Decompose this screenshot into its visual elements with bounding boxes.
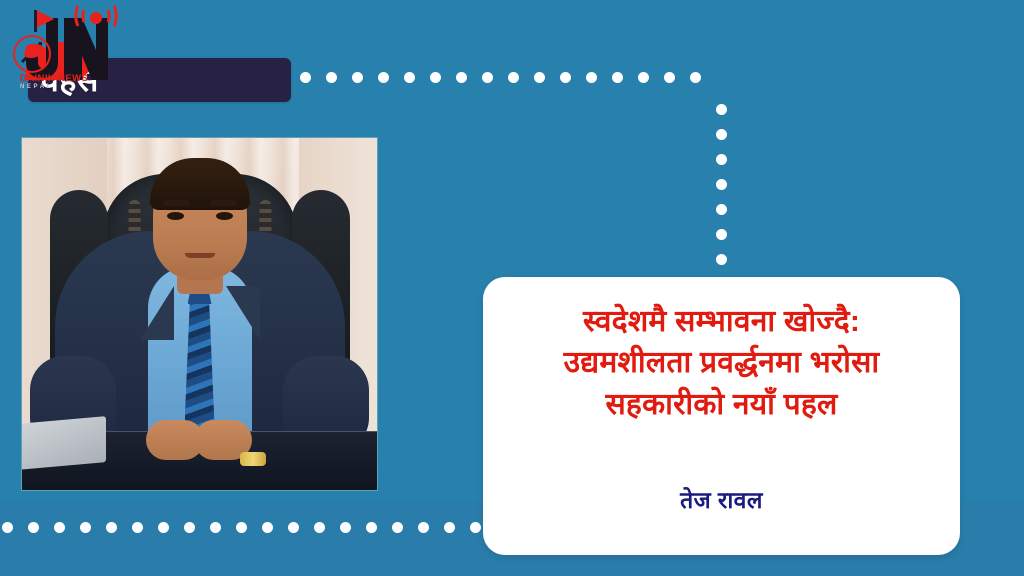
guest-portrait-photo bbox=[22, 138, 377, 490]
decorative-dot bbox=[716, 129, 727, 140]
decorative-dot bbox=[54, 522, 65, 533]
decorative-dot bbox=[288, 522, 299, 533]
logo-wordmark: DAINIK NEWS NEPAL bbox=[20, 74, 88, 90]
decorative-dot bbox=[716, 179, 727, 190]
headline-text: स्वदेशमै सम्भावना खोज्दै:उद्यमशीलता प्रव… bbox=[483, 301, 960, 425]
decorative-dot bbox=[236, 522, 247, 533]
decorative-dot bbox=[664, 72, 675, 83]
decorative-dot bbox=[262, 522, 273, 533]
decorative-dot bbox=[314, 522, 325, 533]
eye-left bbox=[167, 212, 184, 220]
decorative-dot bbox=[470, 522, 481, 533]
decorative-dot bbox=[392, 522, 403, 533]
decorative-dot bbox=[716, 254, 727, 265]
decorative-dot bbox=[28, 522, 39, 533]
decorative-dot bbox=[300, 72, 311, 83]
decorative-dot bbox=[404, 72, 415, 83]
byline-author: तेज रावल bbox=[483, 483, 960, 515]
decorative-dot bbox=[340, 522, 351, 533]
decorative-dot bbox=[80, 522, 91, 533]
decorative-dot bbox=[482, 72, 493, 83]
decorative-dot bbox=[716, 229, 727, 240]
decorative-dot bbox=[456, 72, 467, 83]
decorative-dot bbox=[638, 72, 649, 83]
decorative-dot bbox=[2, 522, 13, 533]
decorative-dot bbox=[560, 72, 571, 83]
headline-line-3: सहकारीको नयाँ पहल bbox=[497, 384, 946, 425]
wristwatch bbox=[240, 452, 266, 466]
headline-card: स्वदेशमै सम्भावना खोज्दै:उद्यमशीलता प्रव… bbox=[483, 277, 960, 555]
decorative-dot bbox=[366, 522, 377, 533]
decorative-dot bbox=[612, 72, 623, 83]
decorative-dot bbox=[158, 522, 169, 533]
decorative-dot bbox=[326, 72, 337, 83]
logo-tagline: NEPAL bbox=[20, 84, 88, 90]
decorative-dot bbox=[444, 522, 455, 533]
eye-right bbox=[216, 212, 233, 220]
dainik-news-logo[interactable]: DAINIK NEWS NEPAL bbox=[8, 2, 126, 100]
decorative-dot bbox=[508, 72, 519, 83]
decorative-dot bbox=[430, 72, 441, 83]
decorative-dot bbox=[184, 522, 195, 533]
laptop bbox=[22, 416, 106, 470]
mouth bbox=[185, 253, 215, 258]
decorative-dot bbox=[534, 72, 545, 83]
decorative-dot bbox=[418, 522, 429, 533]
headline-line-2: उद्यमशीलता प्रवर्द्धनमा भरोसा bbox=[497, 342, 946, 383]
decorative-dot bbox=[106, 522, 117, 533]
decorative-dot bbox=[716, 104, 727, 115]
logo-brand: DAINIK NEWS bbox=[20, 73, 88, 84]
lapel-right bbox=[226, 286, 260, 340]
eyebrow-left bbox=[163, 200, 190, 206]
lapel-left bbox=[140, 286, 174, 340]
decorative-dot bbox=[690, 72, 701, 83]
decorative-dot bbox=[716, 154, 727, 165]
decorative-dot bbox=[378, 72, 389, 83]
decorative-dot bbox=[716, 204, 727, 215]
decorative-dot bbox=[586, 72, 597, 83]
decorative-dot bbox=[132, 522, 143, 533]
slide-canvas: वहस DAINIK NEWS NEPAL bbox=[0, 0, 1024, 576]
headline-line-1: स्वदेशमै सम्भावना खोज्दै: bbox=[497, 301, 946, 342]
decorative-dot bbox=[352, 72, 363, 83]
eyebrow-right bbox=[210, 200, 237, 206]
decorative-dot bbox=[210, 522, 221, 533]
